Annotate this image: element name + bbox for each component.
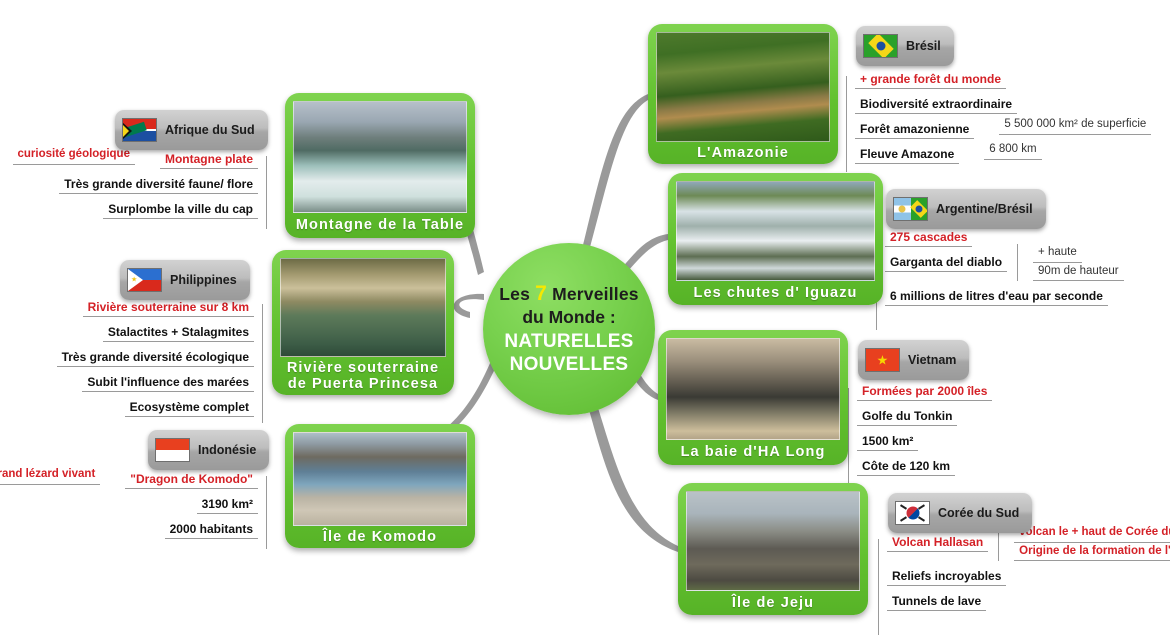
subtopic-detail[interactable]: plus grand lézard vivant <box>0 466 109 485</box>
subtopic-list-komodo: plus grand lézard vivant"Dragon de Komod… <box>0 470 267 545</box>
subtopic-label: + grande forêt du monde <box>855 70 1006 89</box>
subtopic-detail-label: 5 500 000 km² de superficie <box>999 116 1151 135</box>
subtopic-detail[interactable]: 5 500 000 km² de superficie <box>990 116 1151 135</box>
central-les: Les <box>499 284 530 304</box>
flag-indonesia-icon <box>156 439 189 461</box>
subtopic-detail[interactable]: 6 800 km <box>975 141 1041 160</box>
country-chip-iguazu[interactable]: Argentine/Brésil <box>886 189 1046 229</box>
subtopic-label: 3190 km² <box>197 495 258 514</box>
flag-vietnam-icon: ★ <box>865 348 900 372</box>
connector-princesa <box>454 294 484 318</box>
subtopic-item[interactable]: plus grand lézard vivant"Dragon de Komod… <box>0 470 267 489</box>
flag-south-korea-icon <box>895 501 930 525</box>
subtopic-item[interactable]: Subit l'influence des marées <box>57 373 263 392</box>
subtopic-children: 6 800 km <box>969 141 1041 160</box>
country-name: Argentine/Brésil <box>936 202 1033 216</box>
subtopic-label: 2000 habitants <box>165 520 258 539</box>
topic-card-label: Les chutes d' Iguazu <box>691 281 859 305</box>
topic-card-komodo[interactable]: Île de Komodo <box>285 424 475 548</box>
central-topic[interactable]: Les 7 Merveilles du Monde : NATURELLES N… <box>483 243 655 415</box>
subtopic-item[interactable]: + grande forêt du monde <box>846 70 1151 89</box>
subtopic-label: Très grande diversité écologique <box>57 348 254 367</box>
flag-philippines-icon: ★ <box>127 268 162 292</box>
subtopic-item[interactable]: 6 millions de litres d'eau par seconde <box>876 287 1124 306</box>
subtopic-detail[interactable]: 90m de hauteur <box>1024 263 1124 282</box>
flag-brazil-icon <box>863 34 898 58</box>
subtopic-item[interactable]: Tunnels de lave <box>878 592 1170 611</box>
subtopic-item[interactable]: Formées par 2000 îles <box>848 382 992 401</box>
subtopic-detail[interactable]: Origine de la formation de l'île <box>1005 543 1170 562</box>
mindmap-canvas: Les 7 Merveilles du Monde : NATURELLES N… <box>0 0 1170 640</box>
subtopic-item[interactable]: Reliefs incroyables <box>878 567 1170 586</box>
subtopic-item[interactable]: Surplombe la ville du cap <box>13 200 267 219</box>
subtopic-item[interactable]: 2000 habitants <box>0 520 267 539</box>
subtopic-detail-label: 6 800 km <box>984 141 1041 160</box>
topic-photo-princesa <box>280 258 446 357</box>
subtopic-detail-label: Origine de la formation de l'île <box>1014 543 1170 562</box>
subtopic-item[interactable]: Côte de 120 km <box>848 457 992 476</box>
country-chip-komodo[interactable]: Indonésie <box>148 430 269 470</box>
subtopic-label: Stalactites + Stalagmites <box>103 323 254 342</box>
country-chip-jeju[interactable]: Corée du Sud <box>888 493 1032 533</box>
topic-photo-halong <box>666 338 840 440</box>
country-chip-princesa[interactable]: ★Philippines <box>120 260 250 300</box>
topic-card-label: Montagne de la Table <box>294 213 466 238</box>
subtopic-label: Subit l'influence des marées <box>82 373 254 392</box>
subtopic-children: 5 500 000 km² de superficie <box>984 116 1151 135</box>
subtopic-list-halong: Formées par 2000 îlesGolfe du Tonkin1500… <box>848 382 992 482</box>
flag-argentina-brazil-icon <box>893 197 928 221</box>
country-name: Afrique du Sud <box>165 123 255 137</box>
subtopic-detail-label: 90m de hauteur <box>1033 263 1124 282</box>
subtopic-item[interactable]: Très grande diversité faune/ flore <box>13 175 267 194</box>
subtopic-list-table: curiosité géologiqueMontagne plateTrès g… <box>13 150 267 225</box>
subtopic-label: Surplombe la ville du cap <box>103 200 258 219</box>
topic-card-amazonie[interactable]: L'Amazonie <box>648 24 838 164</box>
subtopic-label: Rivière souterraine sur 8 km <box>83 298 254 317</box>
topic-card-label: Île de Jeju <box>730 591 816 615</box>
subtopic-list-iguazu: 275 cascadesGarganta del diablo+ haute90… <box>876 228 1124 312</box>
subtopic-label: Forêt amazonienne <box>855 120 974 139</box>
country-name: Brésil <box>906 39 941 53</box>
country-name: Philippines <box>170 273 237 287</box>
subtopic-item[interactable]: Rivière souterraine sur 8 km <box>57 298 263 317</box>
subtopic-item[interactable]: Volcan Hallasanvolcan le + haut de Corée… <box>878 533 1170 561</box>
topic-photo-jeju <box>686 491 860 591</box>
subtopic-item[interactable]: curiosité géologiqueMontagne plate <box>13 150 267 169</box>
subtopic-children: + haute90m de hauteur <box>1017 244 1124 281</box>
topic-card-label: Rivière souterraine de Puerta Princesa <box>280 357 446 395</box>
topic-card-table[interactable]: Montagne de la Table <box>285 93 475 238</box>
subtopic-detail[interactable]: + haute <box>1024 244 1082 263</box>
subtopic-label: "Dragon de Komodo" <box>125 470 258 489</box>
subtopic-children: plus grand lézard vivant <box>0 466 115 485</box>
subtopic-label: Formées par 2000 îles <box>857 382 992 401</box>
central-line-1: Les 7 Merveilles <box>499 282 638 307</box>
subtopic-item[interactable]: Stalactites + Stalagmites <box>57 323 263 342</box>
central-seven: 7 <box>535 282 547 305</box>
subtopic-label: Volcan Hallasan <box>887 533 988 552</box>
topic-photo-iguazu <box>676 181 875 281</box>
subtopic-list-jeju: Volcan Hallasanvolcan le + haut de Corée… <box>878 533 1170 617</box>
subtopic-item[interactable]: 1500 km² <box>848 432 992 451</box>
subtopic-detail-label: + haute <box>1033 244 1082 263</box>
country-name: Indonésie <box>198 443 256 457</box>
subtopic-label: Reliefs incroyables <box>887 567 1006 586</box>
subtopic-detail-label: volcan le + haut de Corée du Sud <box>1014 524 1170 543</box>
subtopic-item[interactable]: 3190 km² <box>0 495 267 514</box>
subtopic-label: Fleuve Amazone <box>855 145 959 164</box>
subtopic-detail-label: plus grand lézard vivant <box>0 466 100 485</box>
topic-card-jeju[interactable]: Île de Jeju <box>678 483 868 615</box>
subtopic-item[interactable]: Fleuve Amazone6 800 km <box>846 145 1151 164</box>
topic-card-label: L'Amazonie <box>695 142 791 164</box>
subtopic-item[interactable]: Ecosystème complet <box>57 398 263 417</box>
subtopic-list-princesa: Rivière souterraine sur 8 kmStalactites … <box>57 298 263 423</box>
subtopic-label: Ecosystème complet <box>125 398 254 417</box>
central-merveilles: Merveilles <box>552 284 639 304</box>
subtopic-list-amazonie: + grande forêt du mondeBiodiversité extr… <box>846 70 1151 170</box>
subtopic-label: Tunnels de lave <box>887 592 986 611</box>
topic-card-halong[interactable]: La baie d'HA Long <box>658 330 848 465</box>
subtopic-label: Montagne plate <box>160 150 258 169</box>
subtopic-item[interactable]: Golfe du Tonkin <box>848 407 992 426</box>
subtopic-item[interactable]: Garganta del diablo+ haute90m de hauteur <box>876 253 1124 281</box>
subtopic-label: Biodiversité extraordinaire <box>855 95 1017 114</box>
country-name: Vietnam <box>908 353 956 367</box>
country-chip-amazonie[interactable]: Brésil <box>856 26 954 66</box>
subtopic-label: Très grande diversité faune/ flore <box>59 175 258 194</box>
topic-card-princesa[interactable]: Rivière souterraine de Puerta Princesa <box>272 250 454 395</box>
country-chip-halong[interactable]: ★Vietnam <box>858 340 969 380</box>
flag-indonesia-icon <box>155 438 190 462</box>
country-chip-table[interactable]: Afrique du Sud <box>115 110 268 150</box>
country-name: Corée du Sud <box>938 506 1019 520</box>
subtopic-item[interactable]: Biodiversité extraordinaire <box>846 95 1151 114</box>
subtopic-item[interactable]: Très grande diversité écologique <box>57 348 263 367</box>
topic-photo-komodo <box>293 432 467 526</box>
central-line-3: NATURELLES <box>504 331 633 353</box>
subtopic-item[interactable]: Forêt amazonienne5 500 000 km² de superf… <box>846 120 1151 139</box>
topic-card-iguazu[interactable]: Les chutes d' Iguazu <box>668 173 883 305</box>
subtopic-label: 6 millions de litres d'eau par seconde <box>885 287 1108 306</box>
topic-card-label: Île de Komodo <box>321 526 439 548</box>
subtopic-detail-label: curiosité géologique <box>13 146 135 165</box>
flag-south-africa-icon <box>122 118 157 142</box>
topic-photo-amazonie <box>656 32 830 142</box>
topic-card-label: La baie d'HA Long <box>679 440 828 465</box>
subtopic-label: 1500 km² <box>857 432 918 451</box>
central-line-2: du Monde : <box>522 307 615 328</box>
central-line-4: NOUVELLES <box>510 354 629 376</box>
subtopic-label: Garganta del diablo <box>885 253 1007 272</box>
subtopic-label: 275 cascades <box>885 228 972 247</box>
topic-photo-table <box>293 101 467 213</box>
subtopic-label: Golfe du Tonkin <box>857 407 957 426</box>
subtopic-label: Côte de 120 km <box>857 457 955 476</box>
